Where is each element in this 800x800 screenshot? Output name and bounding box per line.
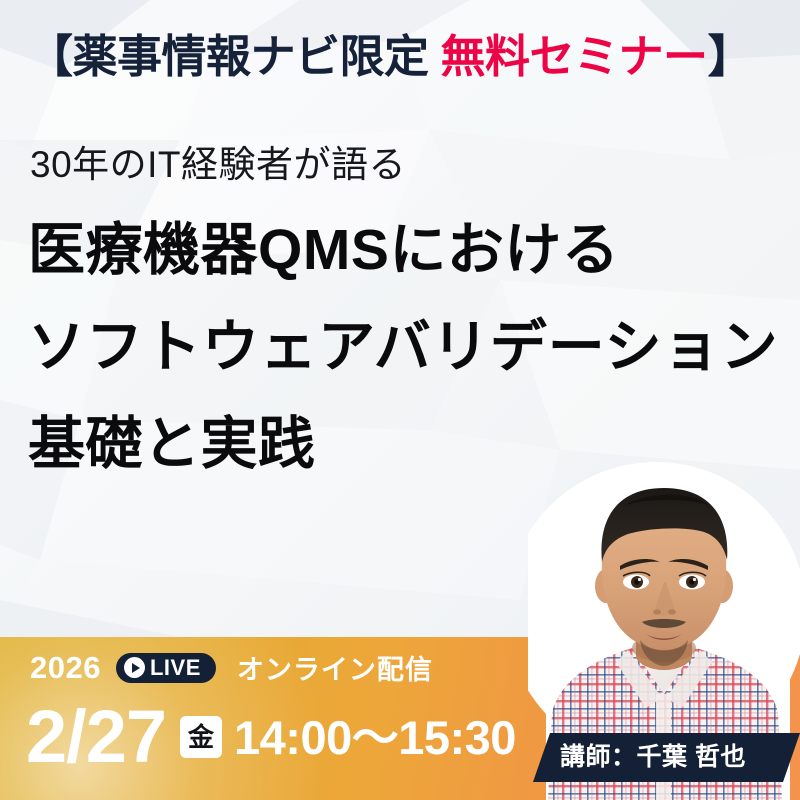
live-badge: LIVE [116, 653, 216, 683]
speaker-name-banner: 講師：千葉 哲也 [533, 733, 800, 782]
headline-limited-text: 薬事情報ナビ限定 [73, 31, 429, 82]
year-label: 2026 [30, 650, 101, 686]
subtitle: 30年のIT経験者が語る [30, 134, 406, 188]
headline-bracket-open: 【 [28, 31, 73, 82]
date-info-row: 2/27 金 14:00〜15:30 [26, 700, 516, 774]
headline-free-seminar-text: 無料セミナー [441, 31, 708, 82]
headline-bracket-close: 】 [708, 31, 753, 82]
speaker-label: 講師：千葉 哲也 [560, 745, 746, 770]
play-icon [124, 657, 145, 678]
main-title: 医療機器QMSにおける ソフトウェアバリデーション 基礎と実践 [28, 222, 800, 473]
live-label: LIVE [150, 657, 201, 679]
time-label: 14:00〜15:30 [234, 714, 516, 761]
date-label: 2/27 [26, 700, 166, 774]
seminar-banner: 【薬事情報ナビ限定 無料セミナー】 30年のIT経験者が語る 医療機器QMSにお… [0, 0, 800, 800]
live-info-row: 2026 LIVE オンライン配信 [30, 648, 433, 687]
headline: 【薬事情報ナビ限定 無料セミナー】 [28, 34, 788, 79]
weekday-label: 金 [188, 724, 214, 750]
title-line-1: 医療機器QMSにおける [28, 222, 800, 279]
title-line-2: ソフトウェアバリデーション [28, 319, 800, 376]
online-delivery-label: オンライン配信 [237, 648, 433, 687]
weekday-badge: 金 [180, 716, 222, 758]
